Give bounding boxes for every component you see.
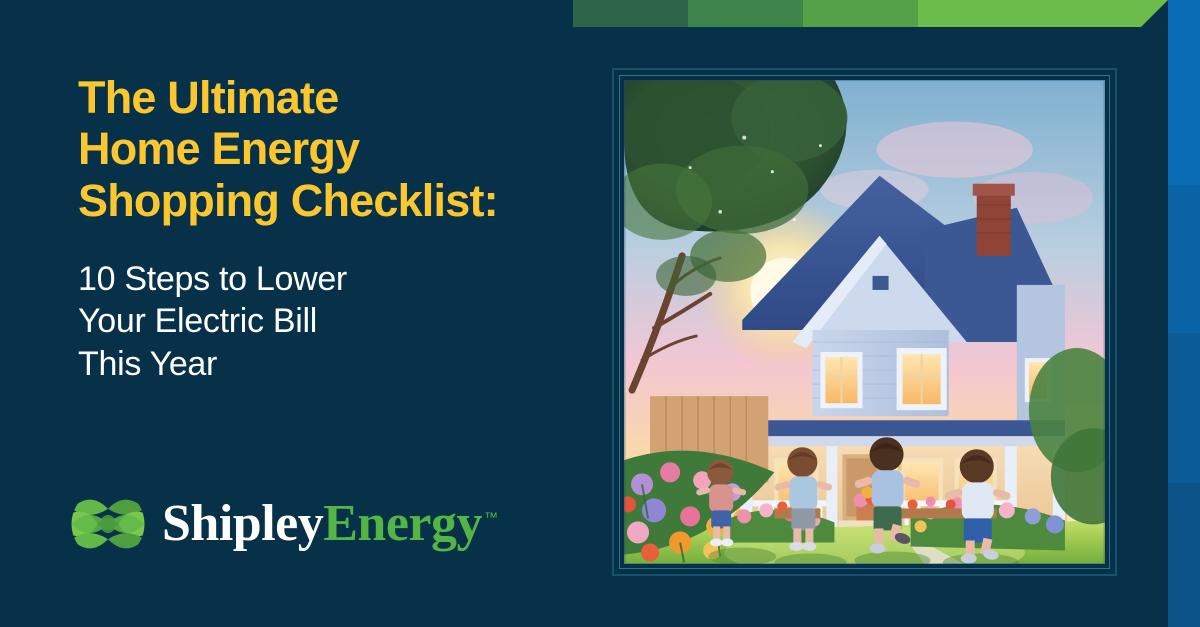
shipley-energy-logo[interactable]: ShipleyEnergy™: [70, 486, 498, 562]
headline: The Ultimate Home Energy Shopping Checkl…: [78, 72, 548, 226]
top-green-bar-group: [573, 0, 1168, 27]
top-bar-segment-4: [918, 0, 1168, 27]
logo-word-energy: Energy: [323, 495, 482, 552]
blue-strip-segment-4: [1168, 483, 1200, 627]
blue-strip-segment-3: [1168, 333, 1200, 483]
top-bar-segment-3: [803, 0, 918, 27]
trademark-symbol: ™: [484, 509, 498, 525]
marketing-banner: The Ultimate Home Energy Shopping Checkl…: [0, 0, 1200, 627]
right-blue-strip: [1168, 0, 1200, 627]
top-bar-segment-2: [688, 0, 803, 27]
blue-strip-segment-1: [1168, 0, 1200, 185]
top-bar-segment-1: [573, 0, 688, 27]
logo-word-shipley: Shipley: [162, 495, 323, 552]
headline-line-1: The Ultimate: [78, 72, 548, 123]
subheadline-line-1: 10 Steps to Lower: [78, 258, 548, 301]
text-column: The Ultimate Home Energy Shopping Checkl…: [78, 72, 548, 385]
headline-line-2: Home Energy: [78, 123, 548, 174]
logo-wordmark: ShipleyEnergy™: [162, 498, 498, 550]
blue-strip-segment-2: [1168, 185, 1200, 333]
house-illustration: [624, 80, 1105, 564]
subheadline-line-2: Your Electric Bill: [78, 300, 548, 343]
subheadline-line-3: This Year: [78, 343, 548, 386]
illustration-frame: [612, 68, 1117, 576]
subheadline: 10 Steps to Lower Your Electric Bill Thi…: [78, 258, 548, 386]
shipley-energy-woven-circle-logo-icon: [70, 486, 146, 562]
headline-line-3: Shopping Checklist:: [78, 175, 548, 226]
